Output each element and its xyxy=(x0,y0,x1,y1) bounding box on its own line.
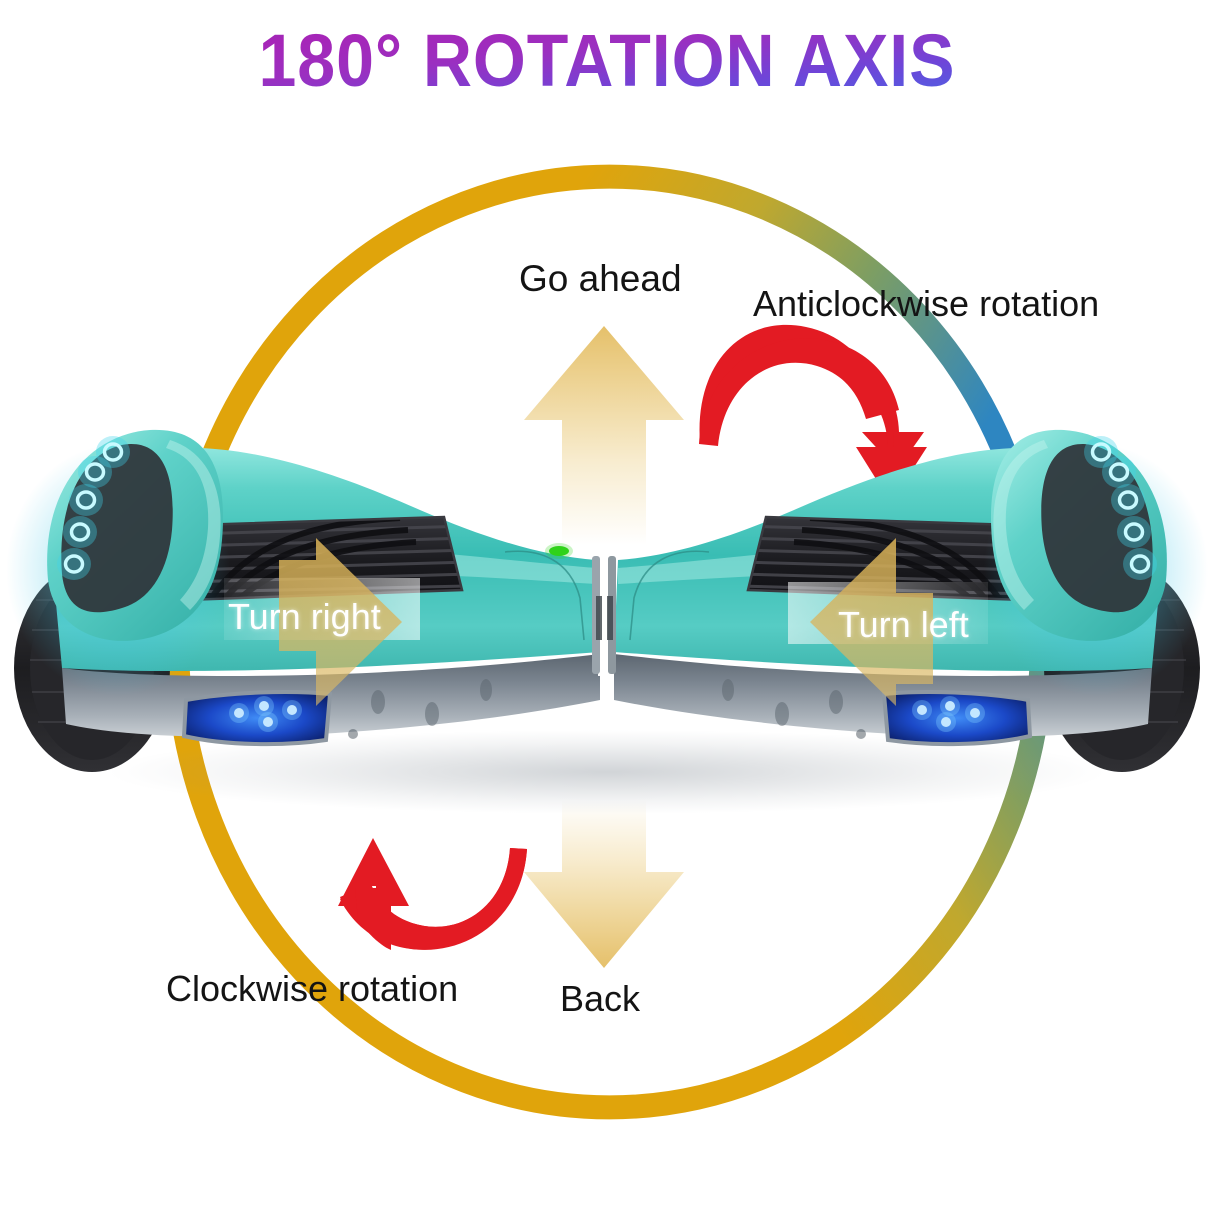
headlight-right xyxy=(884,692,1030,744)
label-clockwise-rotation: Clockwise rotation xyxy=(166,968,458,1010)
label-turn-left: Turn left xyxy=(838,604,969,646)
fender-left xyxy=(6,430,230,696)
label-anticlockwise-rotation: Anticlockwise rotation xyxy=(753,283,1099,325)
diagram-canvas: 180° ROTATION AXIS xyxy=(0,0,1214,1214)
fender-right xyxy=(984,430,1208,696)
label-back: Back xyxy=(560,978,640,1020)
headlight-left xyxy=(184,692,330,744)
label-go-ahead: Go ahead xyxy=(519,258,682,300)
label-turn-right: Turn right xyxy=(228,596,381,638)
hoverboard-illustration xyxy=(0,0,1214,1214)
